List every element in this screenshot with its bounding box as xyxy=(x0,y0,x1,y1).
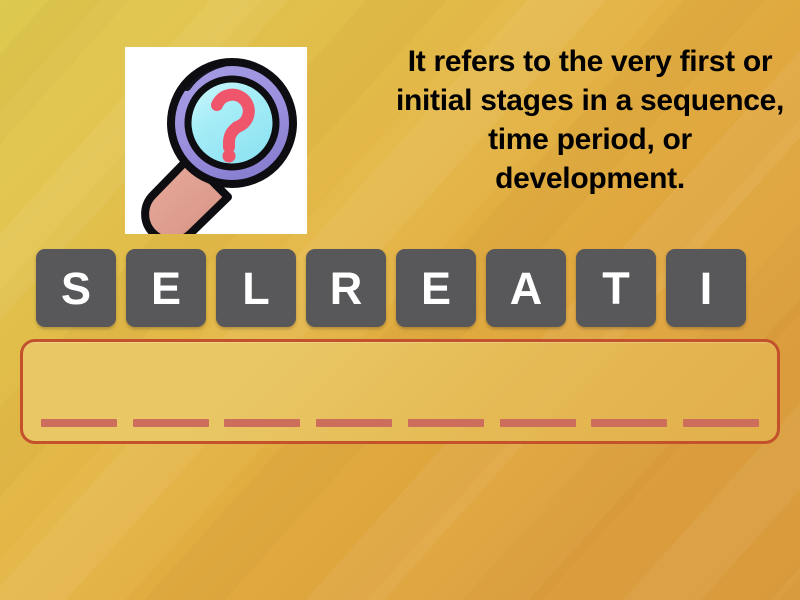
prompt-row: It refers to the very first or initial s… xyxy=(0,0,800,240)
letter-tile[interactable]: I xyxy=(666,249,746,327)
letter-tile-row: S E L R E A T I xyxy=(36,249,766,327)
anagram-game-stage: It refers to the very first or initial s… xyxy=(0,0,800,600)
answer-drop-area[interactable] xyxy=(20,339,780,444)
answer-blank-slot[interactable] xyxy=(316,419,392,427)
letter-tile[interactable]: S xyxy=(36,249,116,327)
letter-tile[interactable]: E xyxy=(396,249,476,327)
letter-tile[interactable]: R xyxy=(306,249,386,327)
answer-blanks-row xyxy=(23,419,777,427)
answer-blank-slot[interactable] xyxy=(500,419,576,427)
clue-text: It refers to the very first or initial s… xyxy=(390,42,790,198)
magnifying-glass-question-icon xyxy=(125,47,307,234)
letter-tile[interactable]: A xyxy=(486,249,566,327)
letter-tile[interactable]: L xyxy=(216,249,296,327)
answer-blank-slot[interactable] xyxy=(408,419,484,427)
answer-blank-slot[interactable] xyxy=(591,419,667,427)
letter-tile[interactable]: T xyxy=(576,249,656,327)
answer-blank-slot[interactable] xyxy=(224,419,300,427)
answer-blank-slot[interactable] xyxy=(133,419,209,427)
question-image-card xyxy=(125,47,307,234)
answer-blank-slot[interactable] xyxy=(683,419,759,427)
letter-tile[interactable]: E xyxy=(126,249,206,327)
answer-blank-slot[interactable] xyxy=(41,419,117,427)
